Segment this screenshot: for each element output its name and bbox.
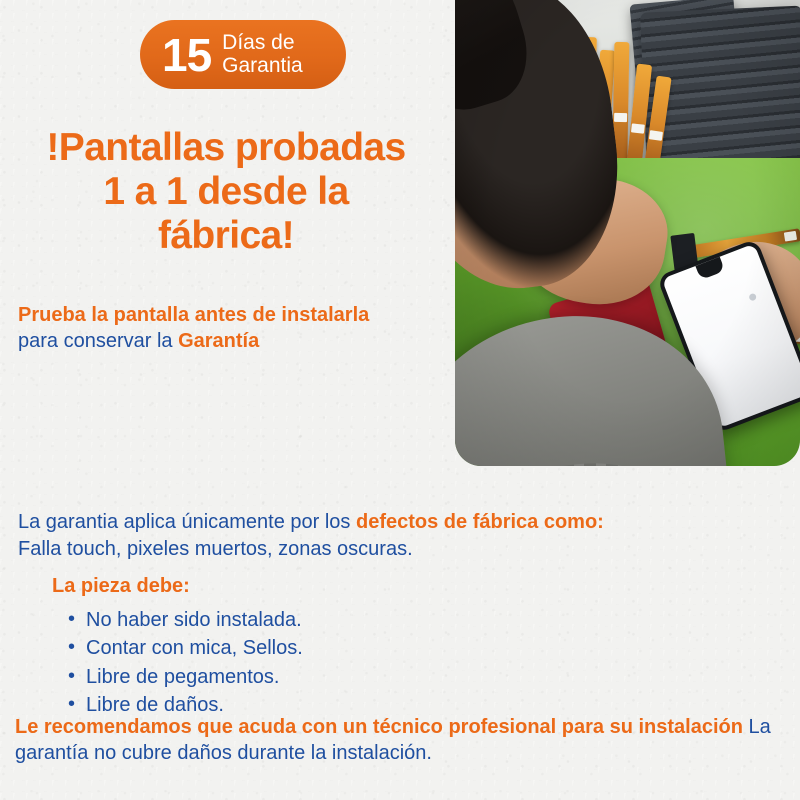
promo-graphic: 15 Días de Garantia !Pantallas probadas … xyxy=(0,0,800,800)
badge-line-1: Días de xyxy=(222,32,303,55)
headline-line-1: !Pantallas probadas xyxy=(0,126,452,170)
footnote: Le recomendamos que acuda con un técnico… xyxy=(15,714,790,767)
subheading-block: Prueba la pantalla antes de instalarla p… xyxy=(18,303,448,354)
warranty-line-1: La garantia aplica únicamente por los de… xyxy=(18,509,786,536)
subheading-emphasis: Garantía xyxy=(178,330,259,352)
warranty-line-2: Falla touch, pixeles muertos, zonas oscu… xyxy=(18,536,786,563)
photo-vignette xyxy=(455,0,800,466)
subheading-prefix: para conservar la xyxy=(18,330,173,352)
photo-canvas xyxy=(455,0,800,466)
headline-line-3: fábrica! xyxy=(0,214,452,258)
warranty-days-badge: 15 Días de Garantia xyxy=(140,20,346,89)
conditions-title: La pieza debe: xyxy=(52,575,552,598)
list-item: No haber sido instalada. xyxy=(68,606,552,634)
list-item: Contar con mica, Sellos. xyxy=(68,634,552,662)
conditions-block: La pieza debe: No haber sido instalada. … xyxy=(52,575,552,720)
badge-line-2: Garantia xyxy=(222,55,303,78)
subheading-line-2: para conservar la Garantía xyxy=(18,329,448,355)
subheading-line-1: Prueba la pantalla antes de instalarla xyxy=(18,303,448,329)
workshop-photo xyxy=(455,0,800,466)
footnote-emphasis: Le recomendamos que acuda con un técnico… xyxy=(15,716,743,738)
warranty-prefix: La garantia aplica únicamente por los xyxy=(18,511,350,533)
warranty-emphasis: defectos de fábrica como: xyxy=(356,511,604,533)
badge-text: Días de Garantia xyxy=(222,32,303,77)
warranty-paragraph: La garantia aplica únicamente por los de… xyxy=(18,509,786,562)
list-item: Libre de pegamentos. xyxy=(68,663,552,691)
headline-line-2: 1 a 1 desde la xyxy=(0,170,452,214)
conditions-list: No haber sido instalada. Contar con mica… xyxy=(52,606,552,720)
headline: !Pantallas probadas 1 a 1 desde la fábri… xyxy=(0,126,452,258)
badge-number: 15 xyxy=(162,32,211,78)
